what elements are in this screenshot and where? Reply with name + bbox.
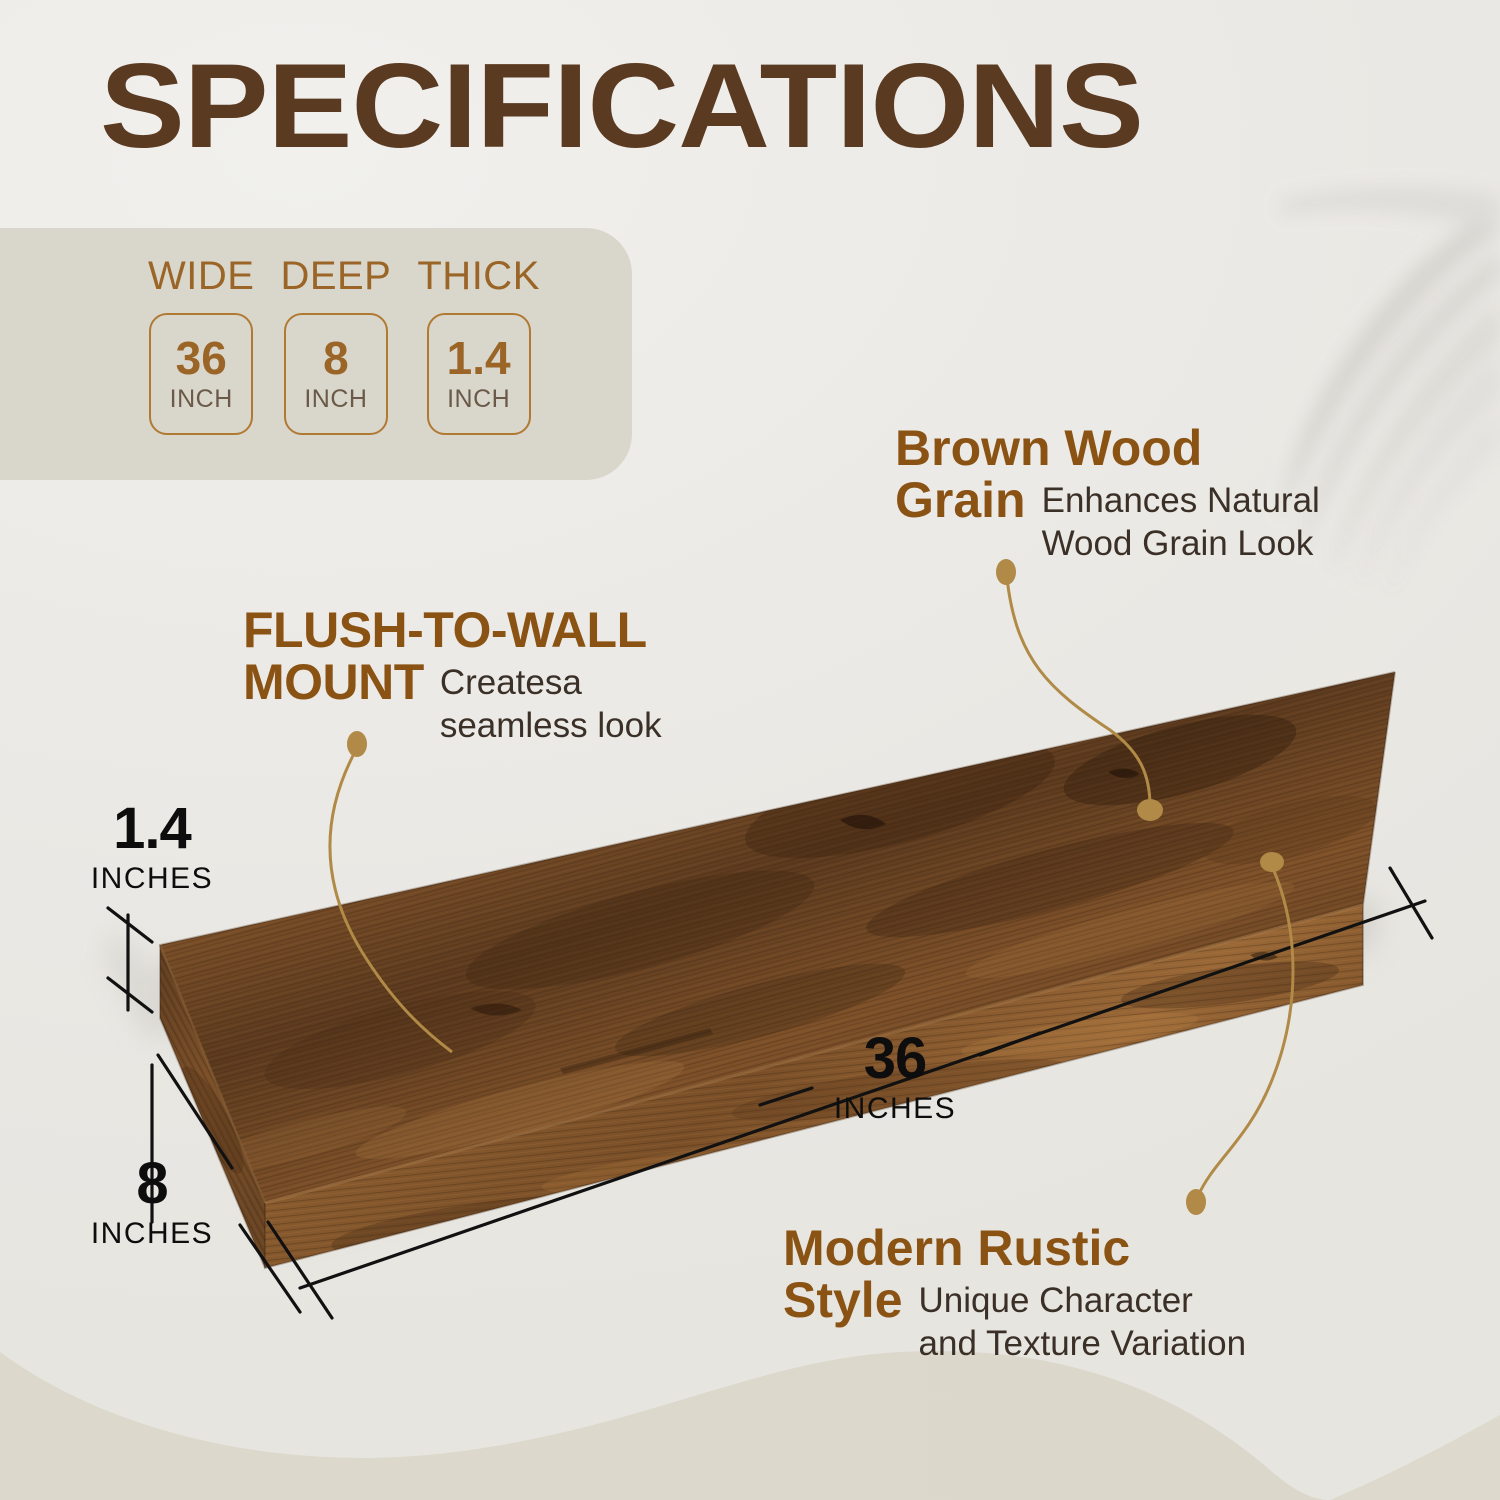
product-cast-shadow <box>105 900 1380 1240</box>
dimension-unit-width: INCHES <box>800 1092 990 1126</box>
leader-line-modern-rustic <box>1198 866 1293 1196</box>
feature-desc: Enhances Natural Wood Grain Look <box>1042 474 1320 565</box>
spec-label-deep: DEEP <box>280 254 391 299</box>
spec-unit-thick: INCH <box>447 385 510 414</box>
leader-line-flush-to-wall <box>330 748 452 1052</box>
dimension-unit-depth: INCHES <box>62 1217 242 1251</box>
dimension-value-depth: 8 <box>62 1155 242 1213</box>
spec-item-wide: WIDE 36 INCH <box>148 254 254 435</box>
dimension-unit-thickness: INCHES <box>62 862 242 896</box>
spec-item-thick: THICK 1.4 INCH <box>417 254 540 435</box>
feature-callout-modern-rustic-style: Modern Rustic Style Unique Character and… <box>783 1222 1383 1365</box>
bottom-wave-shape <box>0 1351 1330 1500</box>
feature-head-line2: Style <box>783 1274 903 1326</box>
spec-item-deep: DEEP 8 INCH <box>280 254 391 435</box>
infographic-canvas: SPECIFICATIONS WIDE 36 INCH DEEP 8 INCH … <box>0 0 1500 1500</box>
leader-line-brown-wood-grain <box>1007 578 1150 806</box>
feature-desc: Createsa seamless look <box>440 656 662 747</box>
feature-head-line2: Grain <box>895 474 1026 526</box>
spec-panel: WIDE 36 INCH DEEP 8 INCH THICK 1.4 INCH <box>148 254 540 435</box>
feature-head-line2: MOUNT <box>243 656 424 708</box>
feature-desc: Unique Character and Texture Variation <box>919 1274 1247 1365</box>
leader-dot-brown-wood-grain-target <box>1137 799 1163 821</box>
spec-box-thick: 1.4 INCH <box>427 313 531 435</box>
feature-callout-brown-wood-grain: Brown Wood Grain Enhances Natural Wood G… <box>895 422 1455 565</box>
spec-unit-wide: INCH <box>170 385 233 414</box>
spec-unit-deep: INCH <box>304 385 367 414</box>
spec-box-wide: 36 INCH <box>149 313 253 435</box>
spec-box-deep: 8 INCH <box>284 313 388 435</box>
feature-callout-flush-to-wall-mount: FLUSH-TO-WALL MOUNT Createsa seamless lo… <box>243 604 803 747</box>
spec-value-deep: 8 <box>323 335 349 381</box>
spec-label-wide: WIDE <box>148 254 254 299</box>
dimension-value-width: 36 <box>800 1030 990 1088</box>
dimension-value-thickness: 1.4 <box>62 800 242 858</box>
spec-value-wide: 36 <box>176 335 227 381</box>
leader-dot-modern-label <box>1186 1189 1206 1215</box>
page-title: SPECIFICATIONS <box>100 46 1143 166</box>
dimension-label-width: 36 INCHES <box>800 1030 990 1126</box>
dimension-label-depth: 8 INCHES <box>62 1155 242 1251</box>
spec-label-thick: THICK <box>417 254 540 299</box>
dimension-label-thickness: 1.4 INCHES <box>62 800 242 896</box>
leader-dot-modern-target <box>1260 852 1284 872</box>
feature-head-line1: FLUSH-TO-WALL <box>243 602 647 658</box>
feature-head-line1: Brown Wood <box>895 420 1202 476</box>
spec-value-thick: 1.4 <box>447 335 511 381</box>
feature-head-line1: Modern Rustic <box>783 1220 1130 1276</box>
